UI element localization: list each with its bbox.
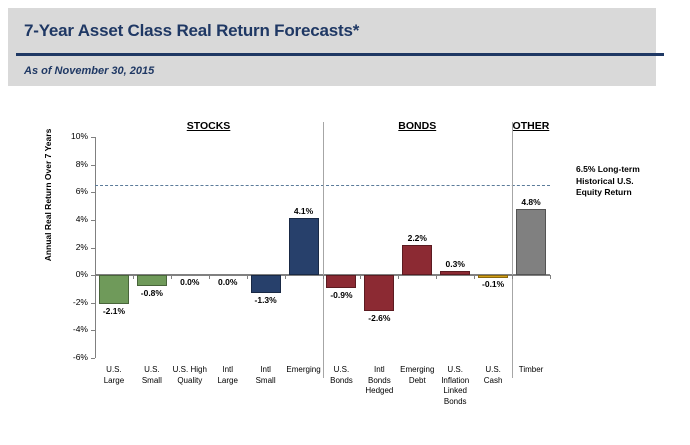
bar-value-label: -1.3%: [243, 295, 289, 305]
group-header-bonds: BONDS: [398, 120, 436, 132]
category-label-line: Hedged: [354, 386, 404, 397]
bar-u-s-small: [137, 275, 167, 286]
group-header-other: OTHER: [513, 120, 550, 132]
y-axis-tick-mark: [91, 220, 95, 221]
bar-value-label: -0.9%: [318, 290, 364, 300]
bar-u-s-cash: [478, 275, 508, 278]
bar-value-label: 0.0%: [205, 277, 251, 287]
bar-intl-bonds-hedged: [364, 275, 394, 311]
y-axis-tick-mark: [91, 192, 95, 193]
bar-emerging-debt: [402, 245, 432, 275]
y-axis-tick-mark: [91, 330, 95, 331]
x-axis-tick-mark: [398, 275, 399, 279]
y-axis-tick-label: -6%: [60, 352, 88, 362]
y-axis-title: Annual Real Return Over 7 Years: [43, 105, 53, 285]
bar-value-label: 4.1%: [281, 206, 327, 216]
bar-timber: [516, 209, 546, 275]
y-axis-tick-label: 10%: [60, 131, 88, 141]
x-axis-tick-mark: [171, 275, 172, 279]
bar-value-label: 2.2%: [394, 233, 440, 243]
bar-emerging: [289, 218, 319, 275]
group-divider: [323, 122, 324, 378]
x-axis-tick-mark: [247, 275, 248, 279]
group-divider: [512, 122, 513, 378]
x-axis-tick-mark: [133, 275, 134, 279]
category-label-line: Cash: [468, 376, 518, 387]
x-axis-tick-mark: [285, 275, 286, 279]
bar-value-label: -0.1%: [470, 279, 516, 289]
annotation-line: 6.5% Long-term: [576, 164, 686, 176]
annotation-line: Historical U.S.: [576, 176, 686, 188]
x-axis-tick-mark: [209, 275, 210, 279]
reference-line-annotation: 6.5% Long-termHistorical U.S.Equity Retu…: [576, 164, 686, 199]
y-axis-tick-mark: [91, 165, 95, 166]
y-axis-line: [95, 137, 96, 358]
bar-value-label: -2.6%: [356, 313, 402, 323]
x-axis-tick-mark: [474, 275, 475, 279]
bar-value-label: 4.8%: [508, 197, 554, 207]
bar-value-label: 0.3%: [432, 259, 478, 269]
category-label-line: Linked: [430, 386, 480, 397]
x-axis-category-label: Timber: [506, 365, 556, 376]
y-axis-tick-mark: [91, 248, 95, 249]
y-axis-tick-label: 8%: [60, 159, 88, 169]
annotation-line: Equity Return: [576, 187, 686, 199]
group-header-stocks: STOCKS: [187, 120, 231, 132]
bar-u-s-inflation-linked-bonds: [440, 271, 470, 275]
x-axis-tick-mark: [360, 275, 361, 279]
y-axis-tick-label: 0%: [60, 269, 88, 279]
y-axis-tick-label: 4%: [60, 214, 88, 224]
bar-value-label: -0.8%: [129, 288, 175, 298]
category-label-line: Timber: [506, 365, 556, 376]
category-label-line: Bonds: [430, 397, 480, 408]
chart-plot-area: Annual Real Return Over 7 Years 6.5% Lon…: [0, 0, 690, 445]
category-label-line: Small: [241, 376, 291, 387]
x-axis-tick-mark: [512, 275, 513, 279]
y-axis-tick-mark: [91, 303, 95, 304]
x-axis-tick-mark: [95, 275, 96, 279]
y-axis-tick-label: -2%: [60, 297, 88, 307]
y-axis-tick-mark: [91, 358, 95, 359]
bar-intl-small: [251, 275, 281, 293]
bar-u-s-large: [99, 275, 129, 304]
y-axis-tick-mark: [91, 137, 95, 138]
x-axis-tick-mark: [436, 275, 437, 279]
y-axis-tick-label: 6%: [60, 186, 88, 196]
y-axis-tick-label: -4%: [60, 324, 88, 334]
bar-value-label: -2.1%: [91, 306, 137, 316]
x-axis-tick-mark: [323, 275, 324, 279]
x-axis-tick-mark: [550, 275, 551, 279]
bar-u-s-bonds: [326, 275, 356, 287]
y-axis-tick-label: 2%: [60, 242, 88, 252]
